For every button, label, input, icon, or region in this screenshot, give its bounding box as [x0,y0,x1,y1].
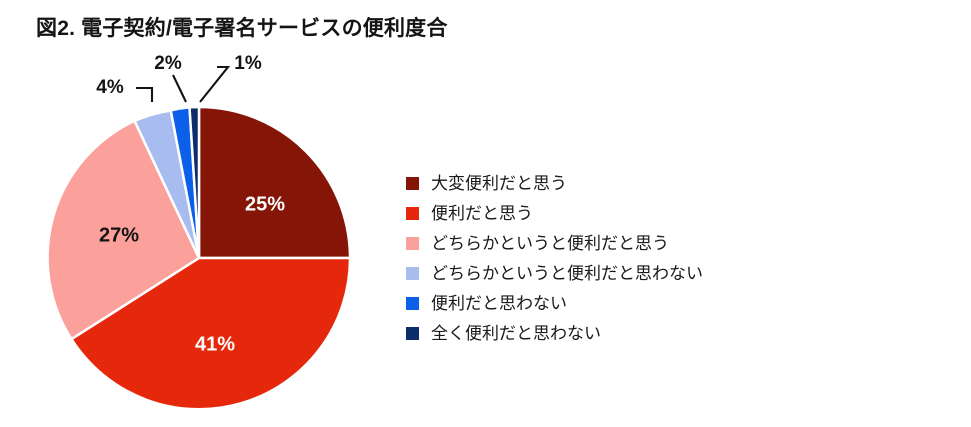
pie-value-label-27: 27% [99,224,139,246]
pie-chart-area: 25% 41% 27% 4% 2% 1% [0,40,400,427]
legend-item-3[interactable]: どちらかというと便利だと思わない [406,258,836,288]
legend-item-label: 全く便利だと思わない [431,325,601,342]
pie-value-label-4: 4% [96,77,124,98]
legend-swatch-icon [406,297,419,310]
pie-chart-svg: 25% 41% 27% 4% 2% 1% [0,40,400,427]
pie-slice-25[interactable] [199,107,350,258]
legend-item-label: 大変便利だと思う [431,175,567,192]
pie-value-label-1: 1% [234,53,262,74]
figure-container: 図2. 電子契約/電子署名サービスの便利度合 25% 41% 27% [0,0,971,427]
leader-line-2 [173,75,186,102]
leader-line-1 [200,67,228,102]
pie-value-label-2: 2% [154,53,182,74]
legend-item-5[interactable]: 全く便利だと思わない [406,318,836,348]
legend-swatch-icon [406,327,419,340]
legend-item-1[interactable]: 便利だと思う [406,198,836,228]
legend-swatch-icon [406,237,419,250]
legend-swatch-icon [406,207,419,220]
chart-title: 図2. 電子契約/電子署名サービスの便利度合 [36,12,448,42]
legend-item-label: どちらかというと便利だと思わない [431,265,703,282]
legend-swatch-icon [406,267,419,280]
legend-item-label: どちらかというと便利だと思う [431,235,669,252]
legend-item-0[interactable]: 大変便利だと思う [406,168,836,198]
pie-value-label-41: 41% [195,333,235,355]
legend-item-label: 便利だと思う [431,205,533,222]
legend-item-label: 便利だと思わない [431,295,567,312]
leader-line-4 [136,88,152,102]
legend-item-2[interactable]: どちらかというと便利だと思う [406,228,836,258]
chart-legend: 大変便利だと思う 便利だと思う どちらかというと便利だと思う どちらかというと便… [406,168,836,348]
pie-value-label-25: 25% [245,193,285,215]
legend-swatch-icon [406,177,419,190]
legend-item-4[interactable]: 便利だと思わない [406,288,836,318]
